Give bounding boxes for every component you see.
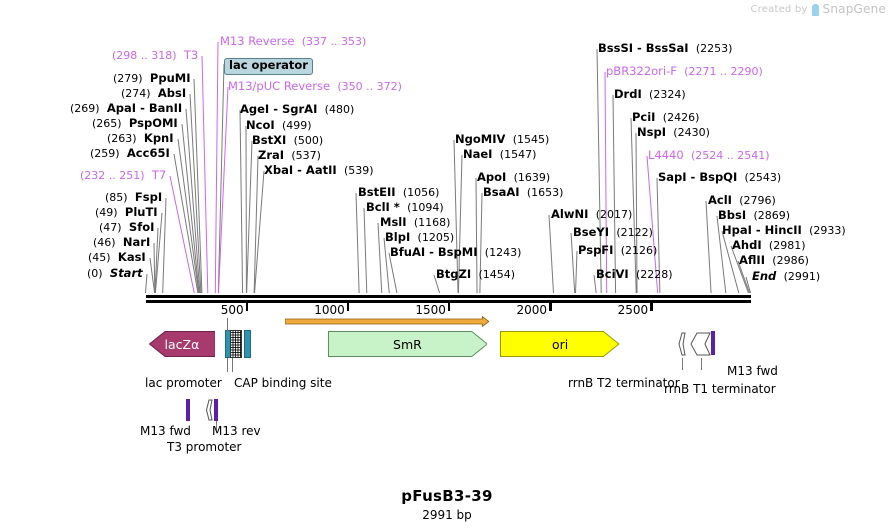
lower-primer-glyph[interactable] [186,399,190,421]
feature-tick [227,358,228,372]
operator-box-right[interactable] [244,330,251,358]
label-cap-binding-site[interactable]: CAP binding site [234,376,332,390]
label-rrnb-t1-terminator[interactable]: rrnB T1 terminator [664,382,776,396]
feature-tick [232,358,233,372]
label-m13-fwd-right[interactable]: M13 fwd [727,364,778,378]
cap-binding-site-box[interactable] [230,330,242,358]
feature-label-ori: ori [500,331,619,357]
feature-ori[interactable]: ori [500,331,619,357]
plasmid-length: 2991 bp [0,508,894,522]
feature-lacz-alpha[interactable]: lacZα [149,331,216,357]
feature-tick [227,318,228,331]
label-rrnb-t2-terminator[interactable]: rrnB T2 terminator [568,376,680,390]
lower-primer-glyph[interactable] [214,399,218,421]
feature-tick [682,358,683,370]
feature-track: lacZαSmRorilac promoterCAP binding siter… [0,0,894,528]
feature-label-lacz-alpha: lacZα [149,331,216,357]
m13-fwd-primer-glyph[interactable] [711,331,715,355]
lower-primer-glyph[interactable] [192,399,195,421]
label-m13-fwd-lower[interactable]: M13 fwd [140,424,191,438]
label-m13-rev-lower[interactable]: M13 rev [212,424,261,438]
feature-smr-promoter-region[interactable] [285,316,489,327]
label-t3-promoter-lower[interactable]: T3 promoter [167,440,241,454]
label-lac-promoter[interactable]: lac promoter [145,376,222,390]
plasmid-map-canvas: Created by SnapGene (298 .. 318) T3(279)… [0,0,894,528]
feature-tick [701,358,702,370]
plasmid-name: pFusB3-39 [0,487,894,505]
plasmid-title: pFusB3-39 2991 bp [0,487,894,522]
feature-label-smr: SmR [328,331,488,357]
feature-smr[interactable]: SmR [328,331,488,357]
